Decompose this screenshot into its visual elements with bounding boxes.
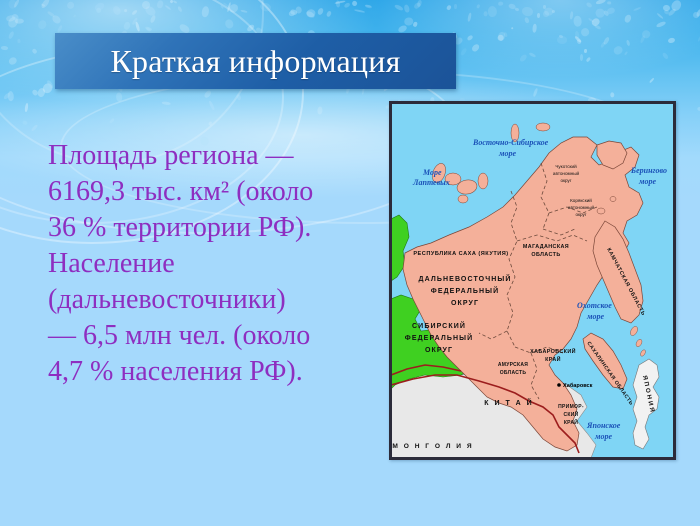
svg-text:КРАЙ: КРАЙ [545, 355, 561, 363]
map-city-khabarovsk: Хабаровск [557, 382, 592, 389]
page-title: Краткая информация [55, 33, 456, 89]
svg-text:море: море [498, 149, 516, 158]
svg-text:ДАЛЬНЕВОСТОЧНЫЙ: ДАЛЬНЕВОСТОЧНЫЙ [419, 274, 512, 283]
svg-text:Чукотский: Чукотский [555, 163, 577, 169]
map-label-sakha: РЕСПУБЛИКА САХА (ЯКУТИЯ) [413, 251, 508, 257]
slide-body-text: Площадь региона — 6169,3 тыс. км² (около… [48, 138, 388, 390]
map-label-china: К И Т А Й [484, 398, 533, 407]
svg-text:Корякский: Корякский [570, 197, 592, 203]
svg-text:АМУРСКАЯ: АМУРСКАЯ [498, 362, 528, 368]
svg-text:автономный: автономный [568, 204, 595, 210]
svg-text:ОБЛАСТЬ: ОБЛАСТЬ [500, 370, 527, 376]
svg-text:Берингово: Берингово [630, 166, 667, 175]
svg-text:море: море [638, 177, 656, 186]
svg-text:СКИЙ: СКИЙ [563, 410, 578, 418]
svg-text:море: море [586, 312, 604, 321]
svg-text:КРАЙ: КРАЙ [564, 418, 578, 426]
svg-text:ОКРУГ: ОКРУГ [451, 300, 479, 307]
svg-text:Лаптевых: Лаптевых [412, 178, 450, 187]
slide-canvas: Краткая информация Площадь региона — 616… [0, 0, 700, 526]
svg-text:МАГАДАНСКАЯ: МАГАДАНСКАЯ [523, 244, 569, 250]
svg-text:автономный: автономный [553, 170, 580, 176]
slide-title-band: Краткая информация [55, 33, 456, 89]
svg-text:ХАБАРОВСКИЙ: ХАБАРОВСКИЙ [530, 347, 576, 355]
svg-text:море: море [594, 432, 612, 441]
svg-text:Охотское: Охотское [577, 301, 612, 310]
map-svg: Море Лаптевых Восточно-Сибирское море Бе… [391, 103, 674, 458]
svg-text:ОКРУГ: ОКРУГ [425, 347, 453, 354]
map-city-dot [557, 383, 561, 387]
svg-text:ОБЛАСТЬ: ОБЛАСТЬ [531, 252, 560, 258]
svg-text:СИБИРСКИЙ: СИБИРСКИЙ [412, 321, 466, 330]
svg-text:Хабаровск: Хабаровск [563, 382, 593, 389]
svg-text:Море: Море [422, 168, 442, 177]
svg-text:ФЕДЕРАЛЬНЫЙ: ФЕДЕРАЛЬНЫЙ [431, 286, 499, 295]
svg-text:Японское: Японское [586, 421, 621, 430]
svg-text:ФЕДЕРАЛЬНЫЙ: ФЕДЕРАЛЬНЫЙ [405, 333, 473, 342]
map-image: Море Лаптевых Восточно-Сибирское море Бе… [389, 101, 676, 460]
svg-text:ПРИМОР-: ПРИМОР- [558, 404, 584, 410]
svg-text:Восточно-Сибирское: Восточно-Сибирское [472, 138, 549, 147]
svg-text:РЕСПУБЛИКА САХА (ЯКУТИЯ): РЕСПУБЛИКА САХА (ЯКУТИЯ) [413, 251, 508, 257]
svg-text:округ: округ [560, 178, 571, 183]
svg-text:округ: округ [575, 212, 586, 217]
map-label-mongolia: М О Н Г О Л И Я [392, 443, 473, 450]
